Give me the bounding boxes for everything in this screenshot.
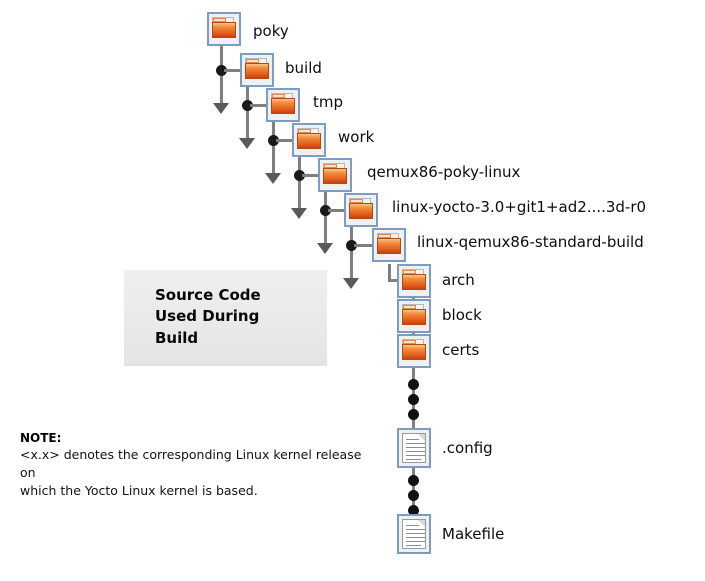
note-block: NOTE: <x.x> denotes the corresponding Li… — [20, 430, 380, 501]
node-label-qemux86-poky-linux: qemux86-poky-linux — [367, 165, 520, 180]
connector-qemux86-vertical — [324, 186, 327, 246]
ellipsis-dot — [408, 409, 419, 420]
note-title: NOTE: — [20, 430, 380, 446]
arrow-qemux86-down — [317, 243, 333, 254]
node-label-makefile: Makefile — [442, 527, 504, 542]
folder-icon[interactable] — [318, 158, 352, 192]
ellipsis-dot — [408, 394, 419, 405]
node-label-build: build — [285, 61, 322, 76]
arrow-build-down — [239, 138, 255, 149]
node-label-arch: arch — [442, 273, 475, 288]
note-body: <x.x> denotes the corresponding Linux ke… — [20, 446, 380, 500]
connector-work-vertical — [298, 151, 301, 211]
file-icon[interactable] — [397, 514, 431, 554]
connector-build-vertical — [246, 81, 249, 141]
node-label-linux-yocto: linux-yocto-3.0+git1+ad2....3d-r0 — [392, 200, 646, 215]
node-label-tmp: tmp — [313, 95, 343, 110]
source-code-callout: Source Code Used During Build — [124, 270, 327, 366]
node-label-linux-qemux86-standard-build: linux-qemux86-standard-build — [417, 235, 644, 250]
folder-icon[interactable] — [344, 193, 378, 227]
callout-text: Source Code Used During Build — [155, 285, 261, 349]
diagram-canvas: poky build tmp work qemux86-poky-linux l… — [0, 0, 705, 581]
folder-icon[interactable] — [292, 123, 326, 157]
folder-icon[interactable] — [240, 53, 274, 87]
ellipsis-dot — [408, 490, 419, 501]
arrow-work-down — [291, 208, 307, 219]
node-label-poky: poky — [253, 24, 289, 39]
connector-tmp-vertical — [272, 116, 275, 176]
ellipsis-dot — [408, 475, 419, 486]
node-label-work: work — [338, 130, 374, 145]
arrow-tmp-down — [265, 173, 281, 184]
folder-icon[interactable] — [372, 228, 406, 262]
folder-icon[interactable] — [266, 88, 300, 122]
ellipsis-dot — [408, 379, 419, 390]
file-icon[interactable] — [397, 428, 431, 468]
folder-icon[interactable] — [397, 264, 431, 298]
folder-icon[interactable] — [397, 299, 431, 333]
node-label-config: .config — [442, 441, 493, 456]
connector-linuxyocto-vertical — [350, 221, 353, 281]
folder-icon[interactable] — [397, 334, 431, 368]
connector-poky-vertical — [220, 46, 223, 106]
arrow-poky-down — [213, 103, 229, 114]
node-label-block: block — [442, 308, 482, 323]
arrow-linuxyocto-down — [343, 278, 359, 289]
folder-icon[interactable] — [207, 12, 241, 46]
node-label-certs: certs — [442, 343, 479, 358]
